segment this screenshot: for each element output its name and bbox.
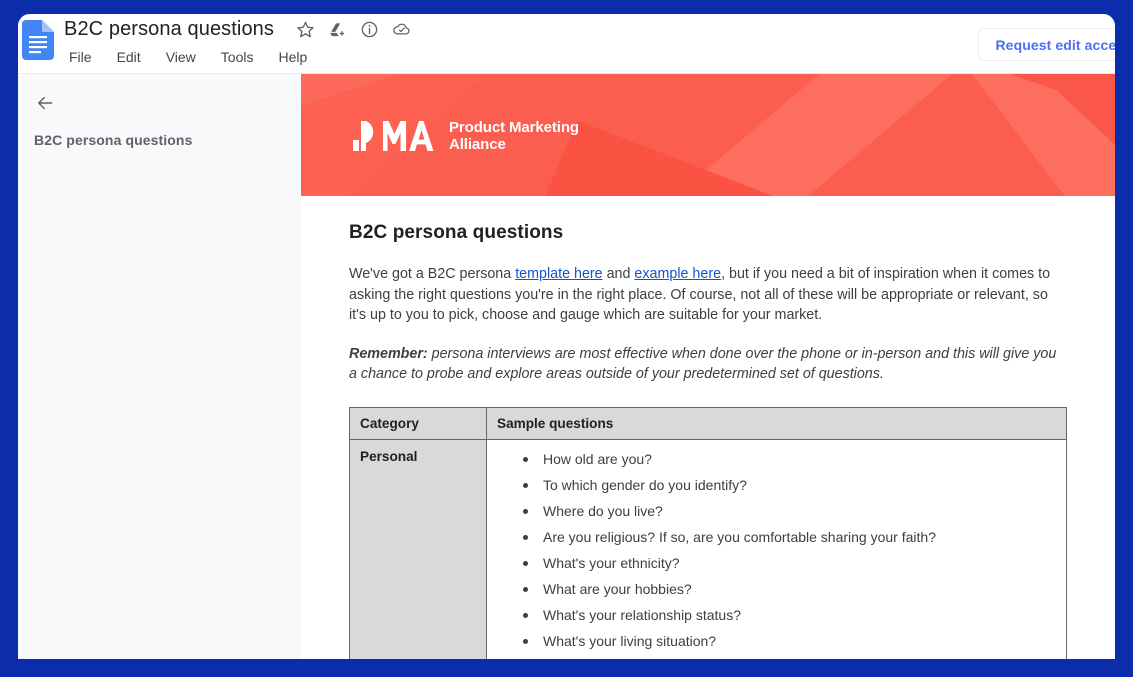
pma-wordmark-line1: Product Marketing <box>449 119 579 136</box>
document-heading: B2C persona questions <box>349 222 1067 244</box>
table-header-sample-questions: Sample questions <box>487 407 1067 439</box>
menu-item-edit[interactable]: Edit <box>114 47 144 67</box>
remember-label: Remember: <box>349 346 428 362</box>
docs-viewport: B2C persona questions <box>18 14 1115 659</box>
list-item: How old are you? <box>497 446 1056 472</box>
list-item: Where do you live? <box>497 498 1056 524</box>
questions-table: Category Sample questions Personal How o… <box>349 407 1067 660</box>
list-item: Are you religious? If so, are you comfor… <box>497 524 1056 550</box>
info-circle-icon[interactable] <box>360 20 379 39</box>
page-title[interactable]: B2C persona questions <box>64 18 274 41</box>
menu-item-view[interactable]: View <box>163 47 199 67</box>
window-frame: B2C persona questions <box>0 0 1133 677</box>
google-docs-icon[interactable] <box>22 20 54 60</box>
template-here-link[interactable]: template here <box>515 266 602 282</box>
outline-item-heading[interactable]: B2C persona questions <box>34 132 285 148</box>
pma-logo: Product Marketing Alliance <box>353 119 579 154</box>
intro-segment-2: and <box>603 266 635 282</box>
star-icon[interactable] <box>296 20 315 39</box>
cloud-icon[interactable] <box>392 20 411 39</box>
menu-item-tools[interactable]: Tools <box>218 47 257 67</box>
pma-logo-mark-icon <box>353 119 435 153</box>
document-body: B2C persona questions We've got a B2C pe… <box>301 196 1115 659</box>
table-header-row: Category Sample questions <box>350 407 1067 439</box>
menu-item-help[interactable]: Help <box>275 47 310 67</box>
list-item: What's your relationship status? <box>497 602 1056 628</box>
move-to-folder-icon[interactable] <box>328 20 347 39</box>
example-here-link[interactable]: example here <box>634 266 721 282</box>
back-arrow-icon[interactable] <box>32 90 58 116</box>
menu-bar: File Edit View Tools Help <box>66 47 310 67</box>
list-item: What's your ethnicity? <box>497 550 1056 576</box>
document-canvas: Product Marketing Alliance B2C persona q… <box>301 74 1115 659</box>
table-row: Personal How old are you? To which gende… <box>350 439 1067 659</box>
body-area: B2C persona questions <box>18 74 1115 659</box>
list-item: What are your hobbies? <box>497 576 1056 602</box>
pma-banner-image: Product Marketing Alliance <box>301 74 1115 196</box>
pma-wordmark-line2: Alliance <box>449 136 579 153</box>
intro-segment-1: We've got a B2C persona <box>349 266 515 282</box>
docs-topbar: B2C persona questions <box>18 14 1115 74</box>
document-outline-sidebar: B2C persona questions <box>18 74 301 659</box>
list-item: What's your living situation? <box>497 628 1056 654</box>
table-cell-questions: How old are you? To which gender do you … <box>487 439 1067 659</box>
list-item: To which gender do you identify? <box>497 472 1056 498</box>
request-edit-access-button[interactable]: Request edit access <box>978 28 1115 61</box>
remember-note: Remember: persona interviews are most ef… <box>349 344 1067 385</box>
question-list: How old are you? To which gender do you … <box>497 446 1056 654</box>
remember-text: persona interviews are most effective wh… <box>349 346 1056 383</box>
menu-item-file[interactable]: File <box>66 47 95 67</box>
table-header-category: Category <box>350 407 487 439</box>
title-row: B2C persona questions <box>64 18 411 41</box>
pma-logo-wordmark: Product Marketing Alliance <box>449 119 579 154</box>
title-icon-group <box>296 20 411 39</box>
table-cell-category: Personal <box>350 439 487 659</box>
intro-paragraph: We've got a B2C persona template here an… <box>349 264 1067 326</box>
